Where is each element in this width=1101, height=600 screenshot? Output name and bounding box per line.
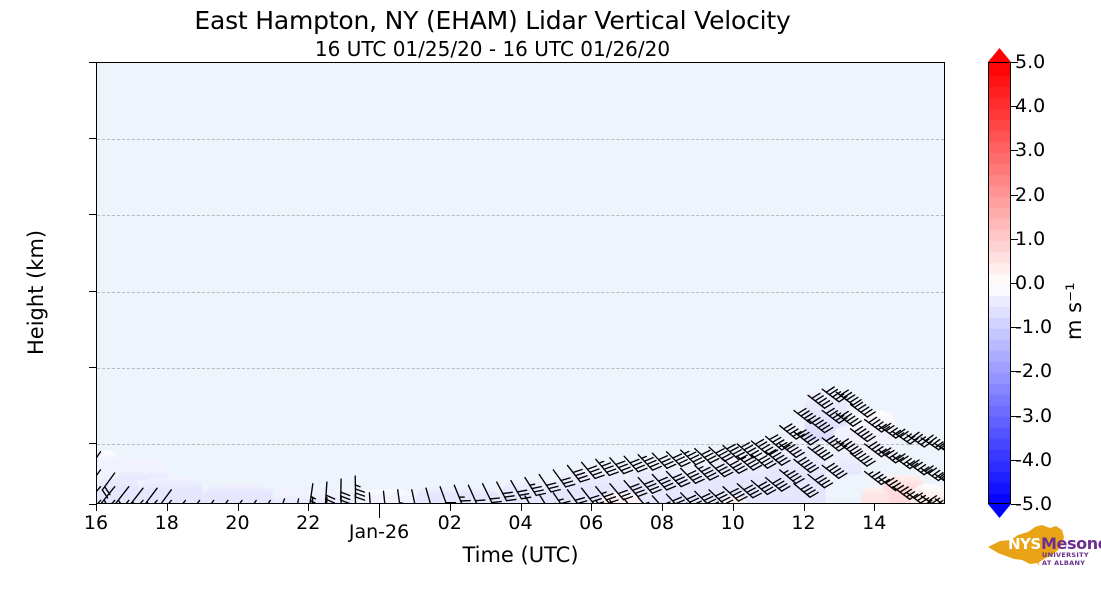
wind-barb xyxy=(553,470,575,487)
wind-barb xyxy=(398,490,410,504)
wind-barb xyxy=(230,500,242,504)
wind-barb xyxy=(624,499,646,504)
y-axis-tick-mark xyxy=(89,367,96,368)
wind-barb xyxy=(681,493,704,504)
x-axis-tick-label: 20 xyxy=(225,512,249,534)
colorbar-tick-label: 5.0 xyxy=(1015,51,1045,73)
x-axis-tick-label: 16 xyxy=(84,512,108,534)
wind-barb xyxy=(822,436,847,451)
wind-barb xyxy=(794,484,818,498)
colorbar-tick-mark xyxy=(1011,327,1018,328)
colorbar-tick-mark xyxy=(1011,283,1018,284)
x-axis-tick-label: Jan-26 xyxy=(349,521,409,543)
colorbar-max-extend-arrow xyxy=(988,48,1011,62)
nys-mesonet-logo: NYS Mesonet UNIVERSITY AT ALBANY xyxy=(978,519,1096,575)
wind-barb xyxy=(808,475,833,488)
wind-barb xyxy=(158,500,171,504)
x-axis-tick-mark xyxy=(379,504,380,518)
colorbar-tick-mark xyxy=(1011,371,1018,372)
x-axis-tick-label: 08 xyxy=(650,512,674,534)
logo-nys-text: NYS xyxy=(1008,535,1041,553)
x-axis-tick-mark xyxy=(591,504,592,511)
wind-barb xyxy=(709,447,733,461)
x-axis-tick-label: 12 xyxy=(791,512,815,534)
colorbar-tick-label: -1.0 xyxy=(1015,316,1052,338)
plot-area xyxy=(96,62,945,504)
wind-barb xyxy=(201,500,214,504)
x-axis-tick-mark xyxy=(733,504,734,511)
wind-barb xyxy=(851,427,876,442)
wind-barb xyxy=(440,487,457,504)
wind-barb xyxy=(794,458,819,473)
colorbar-tick-label: 1.0 xyxy=(1015,228,1045,250)
colorbar-tick-label: -3.0 xyxy=(1015,405,1052,427)
wind-barb xyxy=(216,500,228,504)
wind-barb xyxy=(384,491,395,504)
colorbar-tick-mark xyxy=(1011,195,1018,196)
wind-barb xyxy=(341,479,350,503)
x-axis-tick-mark xyxy=(662,504,663,511)
wind-barb xyxy=(412,490,426,504)
wind-barb xyxy=(808,393,833,408)
colorbar-tick-label: -5.0 xyxy=(1015,493,1052,515)
colorbar-tick-label: 3.0 xyxy=(1015,139,1045,161)
wind-barb xyxy=(172,500,185,504)
colorbar-min-extend-arrow xyxy=(988,504,1011,518)
wind-barb xyxy=(426,488,441,504)
wind-barb xyxy=(865,417,890,432)
wind-barb xyxy=(468,485,486,504)
wind-barb xyxy=(808,418,833,433)
y-axis-tick-mark xyxy=(89,504,96,505)
y-axis-tick-mark xyxy=(89,214,96,215)
wind-barb xyxy=(244,500,256,504)
wind-barb xyxy=(97,500,101,504)
colorbar-tick-mark xyxy=(1011,239,1018,240)
colorbar-tick-mark xyxy=(1011,106,1018,107)
x-axis-tick-label: 14 xyxy=(862,512,886,534)
wind-barb xyxy=(369,493,380,504)
wind-barb xyxy=(259,500,270,504)
wind-barb xyxy=(822,387,847,402)
colorbar-tick-label: 0.0 xyxy=(1015,272,1045,294)
x-axis-tick-mark xyxy=(238,504,239,511)
chart-subtitle: 16 UTC 01/25/20 - 16 UTC 01/26/20 xyxy=(0,37,985,61)
x-axis-tick-mark xyxy=(167,504,168,511)
x-axis-tick-mark xyxy=(521,504,522,511)
colorbar-tick-mark xyxy=(1011,416,1018,417)
y-axis-tick-mark xyxy=(89,62,96,63)
y-axis-label: Height (km) xyxy=(24,230,48,355)
y-axis-tick-mark xyxy=(89,291,96,292)
x-axis-tick-mark xyxy=(874,504,875,511)
wind-barb xyxy=(893,429,918,444)
x-axis-tick-mark xyxy=(804,504,805,511)
x-axis-tick-label: 10 xyxy=(721,512,745,534)
colorbar-tick-label: -2.0 xyxy=(1015,360,1052,382)
wind-barb xyxy=(822,408,847,423)
wind-barb xyxy=(539,494,559,504)
wind-barb xyxy=(568,490,590,504)
colorbar-tick-mark xyxy=(1011,504,1018,505)
wind-barb xyxy=(294,499,303,504)
y-axis-tick-mark xyxy=(89,138,96,139)
wind-barb xyxy=(893,454,918,469)
wind-barb-layer xyxy=(97,63,945,504)
wind-barb xyxy=(808,445,833,460)
x-axis-tick-label: 18 xyxy=(155,512,179,534)
colorbar-tick-mark xyxy=(1011,460,1018,461)
colorbar: 5.04.03.02.01.00.0-1.0-2.0-3.0-4.0-5.0 xyxy=(988,62,1011,504)
x-axis-tick-label: 22 xyxy=(296,512,320,534)
wind-barb xyxy=(277,499,286,504)
y-axis-tick-mark xyxy=(89,443,96,444)
x-axis-tick-label: 02 xyxy=(438,512,462,534)
colorbar-tick-label: 2.0 xyxy=(1015,184,1045,206)
x-axis-label: Time (UTC) xyxy=(96,543,945,567)
colorbar-gradient xyxy=(988,62,1011,504)
x-axis-tick-mark xyxy=(450,504,451,511)
colorbar-tick-label: -4.0 xyxy=(1015,449,1052,471)
wind-barb xyxy=(766,435,790,450)
x-axis-tick-mark xyxy=(308,504,309,511)
colorbar-tick-mark xyxy=(1011,62,1018,63)
colorbar-tick-label: 4.0 xyxy=(1015,95,1045,117)
wind-barb xyxy=(355,476,364,500)
logo-university-text: UNIVERSITY AT ALBANY xyxy=(1042,551,1096,567)
wind-barb xyxy=(539,475,560,492)
x-axis-tick-mark xyxy=(96,504,97,511)
wind-barb xyxy=(187,500,200,504)
wind-barb xyxy=(822,463,847,478)
wind-barb xyxy=(116,487,129,504)
wind-barb xyxy=(935,499,945,504)
x-axis-tick-label: 06 xyxy=(579,512,603,534)
x-axis-tick-label: 04 xyxy=(508,512,532,534)
colorbar-tick-mark xyxy=(1011,150,1018,151)
chart-title: East Hampton, NY (EHAM) Lidar Vertical V… xyxy=(0,6,985,35)
wind-barb xyxy=(144,500,158,504)
wind-barb xyxy=(310,484,319,504)
colorbar-label: m s⁻¹ xyxy=(1062,282,1086,340)
